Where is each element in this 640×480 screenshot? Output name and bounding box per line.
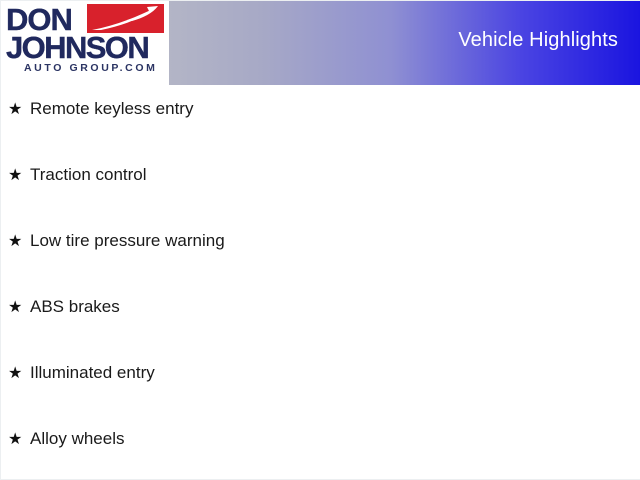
star-icon: ★ [8, 167, 30, 183]
list-item: ★ ABS brakes [1, 294, 640, 320]
star-icon: ★ [8, 299, 30, 315]
list-item-label: Traction control [30, 165, 147, 185]
list-item-label: Illuminated entry [30, 363, 155, 383]
vehicle-highlights-page: DON JOHNSON AUTO GROUP.COM Vehicle Highl… [0, 0, 640, 480]
list-item: ★ Low tire pressure warning [1, 228, 640, 254]
list-item: ★ Remote keyless entry [1, 96, 640, 122]
list-item: ★ Illuminated entry [1, 360, 640, 386]
logo-red-banner [87, 4, 164, 33]
swoosh-icon [87, 4, 164, 33]
list-item-label: Remote keyless entry [30, 99, 193, 119]
list-item-label: ABS brakes [30, 297, 120, 317]
star-icon: ★ [8, 431, 30, 447]
star-icon: ★ [8, 233, 30, 249]
list-item: ★ Traction control [1, 162, 640, 188]
page-header: DON JOHNSON AUTO GROUP.COM Vehicle Highl… [1, 1, 640, 85]
dealer-logo[interactable]: DON JOHNSON AUTO GROUP.COM [1, 1, 169, 85]
list-item-label: Low tire pressure warning [30, 231, 225, 251]
logo-tagline: AUTO GROUP.COM [24, 62, 157, 74]
list-item: ★ Alloy wheels [1, 426, 640, 452]
star-icon: ★ [8, 365, 30, 381]
page-title: Vehicle Highlights [458, 29, 618, 52]
highlights-list: ★ Remote keyless entry ★ Traction contro… [1, 85, 640, 479]
list-item-label: Alloy wheels [30, 429, 125, 449]
logo-line-johnson: JOHNSON [6, 32, 148, 63]
star-icon: ★ [8, 101, 30, 117]
